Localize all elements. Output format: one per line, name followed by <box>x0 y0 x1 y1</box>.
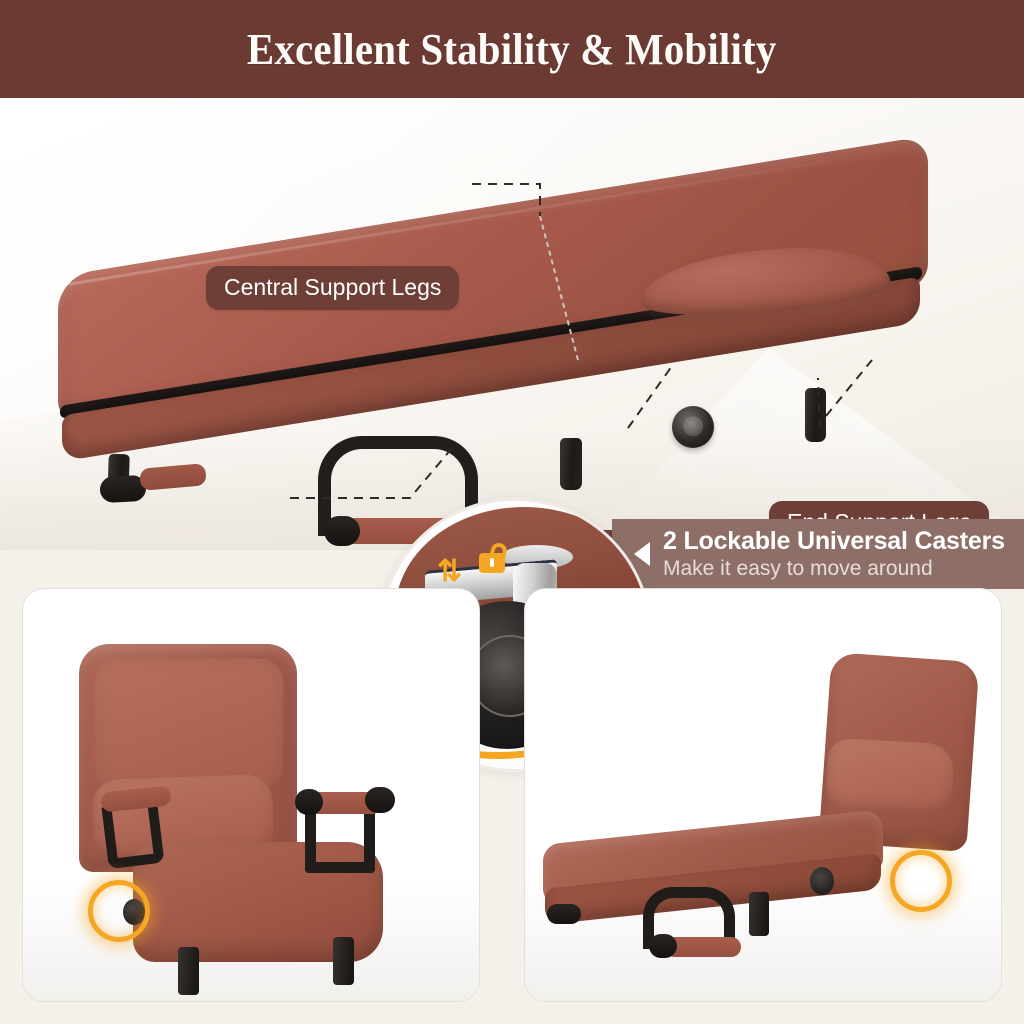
chair-armrest-cap-right-back <box>365 787 395 813</box>
hero-product-scene: Central Support Legs Armrest Support Whe… <box>0 98 1024 550</box>
chair-upright-panel <box>22 588 480 1002</box>
central-support-leg <box>560 438 582 490</box>
header-banner: Excellent Stability & Mobility <box>0 0 1024 98</box>
caster-callout-band: 2 Lockable Universal Casters Make it eas… <box>612 519 1024 589</box>
label-text: Central Support Legs <box>224 274 441 300</box>
chair-leg-rear <box>333 937 354 985</box>
label-central-support-legs: Central Support Legs <box>206 266 459 310</box>
chair-armrest-cap-right-front <box>295 789 323 815</box>
caster-callout-title: 2 Lockable Universal Casters <box>663 527 1005 556</box>
end-support-leg-front <box>805 388 826 442</box>
chaise-central-leg <box>749 892 769 936</box>
infographic-page: Excellent Stability & Mobility <box>0 0 1024 1024</box>
chaise-caster-wheel <box>810 867 834 895</box>
page-title: Excellent Stability & Mobility <box>247 24 777 75</box>
chaise-armrest-cap <box>649 934 677 958</box>
chaise-foot-cap-left <box>547 904 581 924</box>
caster-highlight-ring-right <box>890 850 952 912</box>
chaise-pillow <box>825 738 955 816</box>
up-down-arrow-icon: ⇅ <box>437 557 462 587</box>
caster-callout-text: 2 Lockable Universal Casters Make it eas… <box>663 527 1005 582</box>
hero-caster-wheel <box>672 406 714 448</box>
chaise-reclined-panel <box>524 588 1002 1002</box>
chair-leg-front <box>178 947 199 995</box>
leader-wheels <box>628 366 672 428</box>
chair-armrest-bar-right <box>305 811 375 873</box>
lock-open-icon <box>479 543 505 573</box>
caster-highlight-ring-left <box>88 880 150 942</box>
armrest-end-cap-left <box>324 516 360 546</box>
chair-backrest-cushion <box>95 659 283 789</box>
lock-body <box>479 553 505 573</box>
caster-callout-subtitle: Make it easy to move around <box>663 556 1005 581</box>
